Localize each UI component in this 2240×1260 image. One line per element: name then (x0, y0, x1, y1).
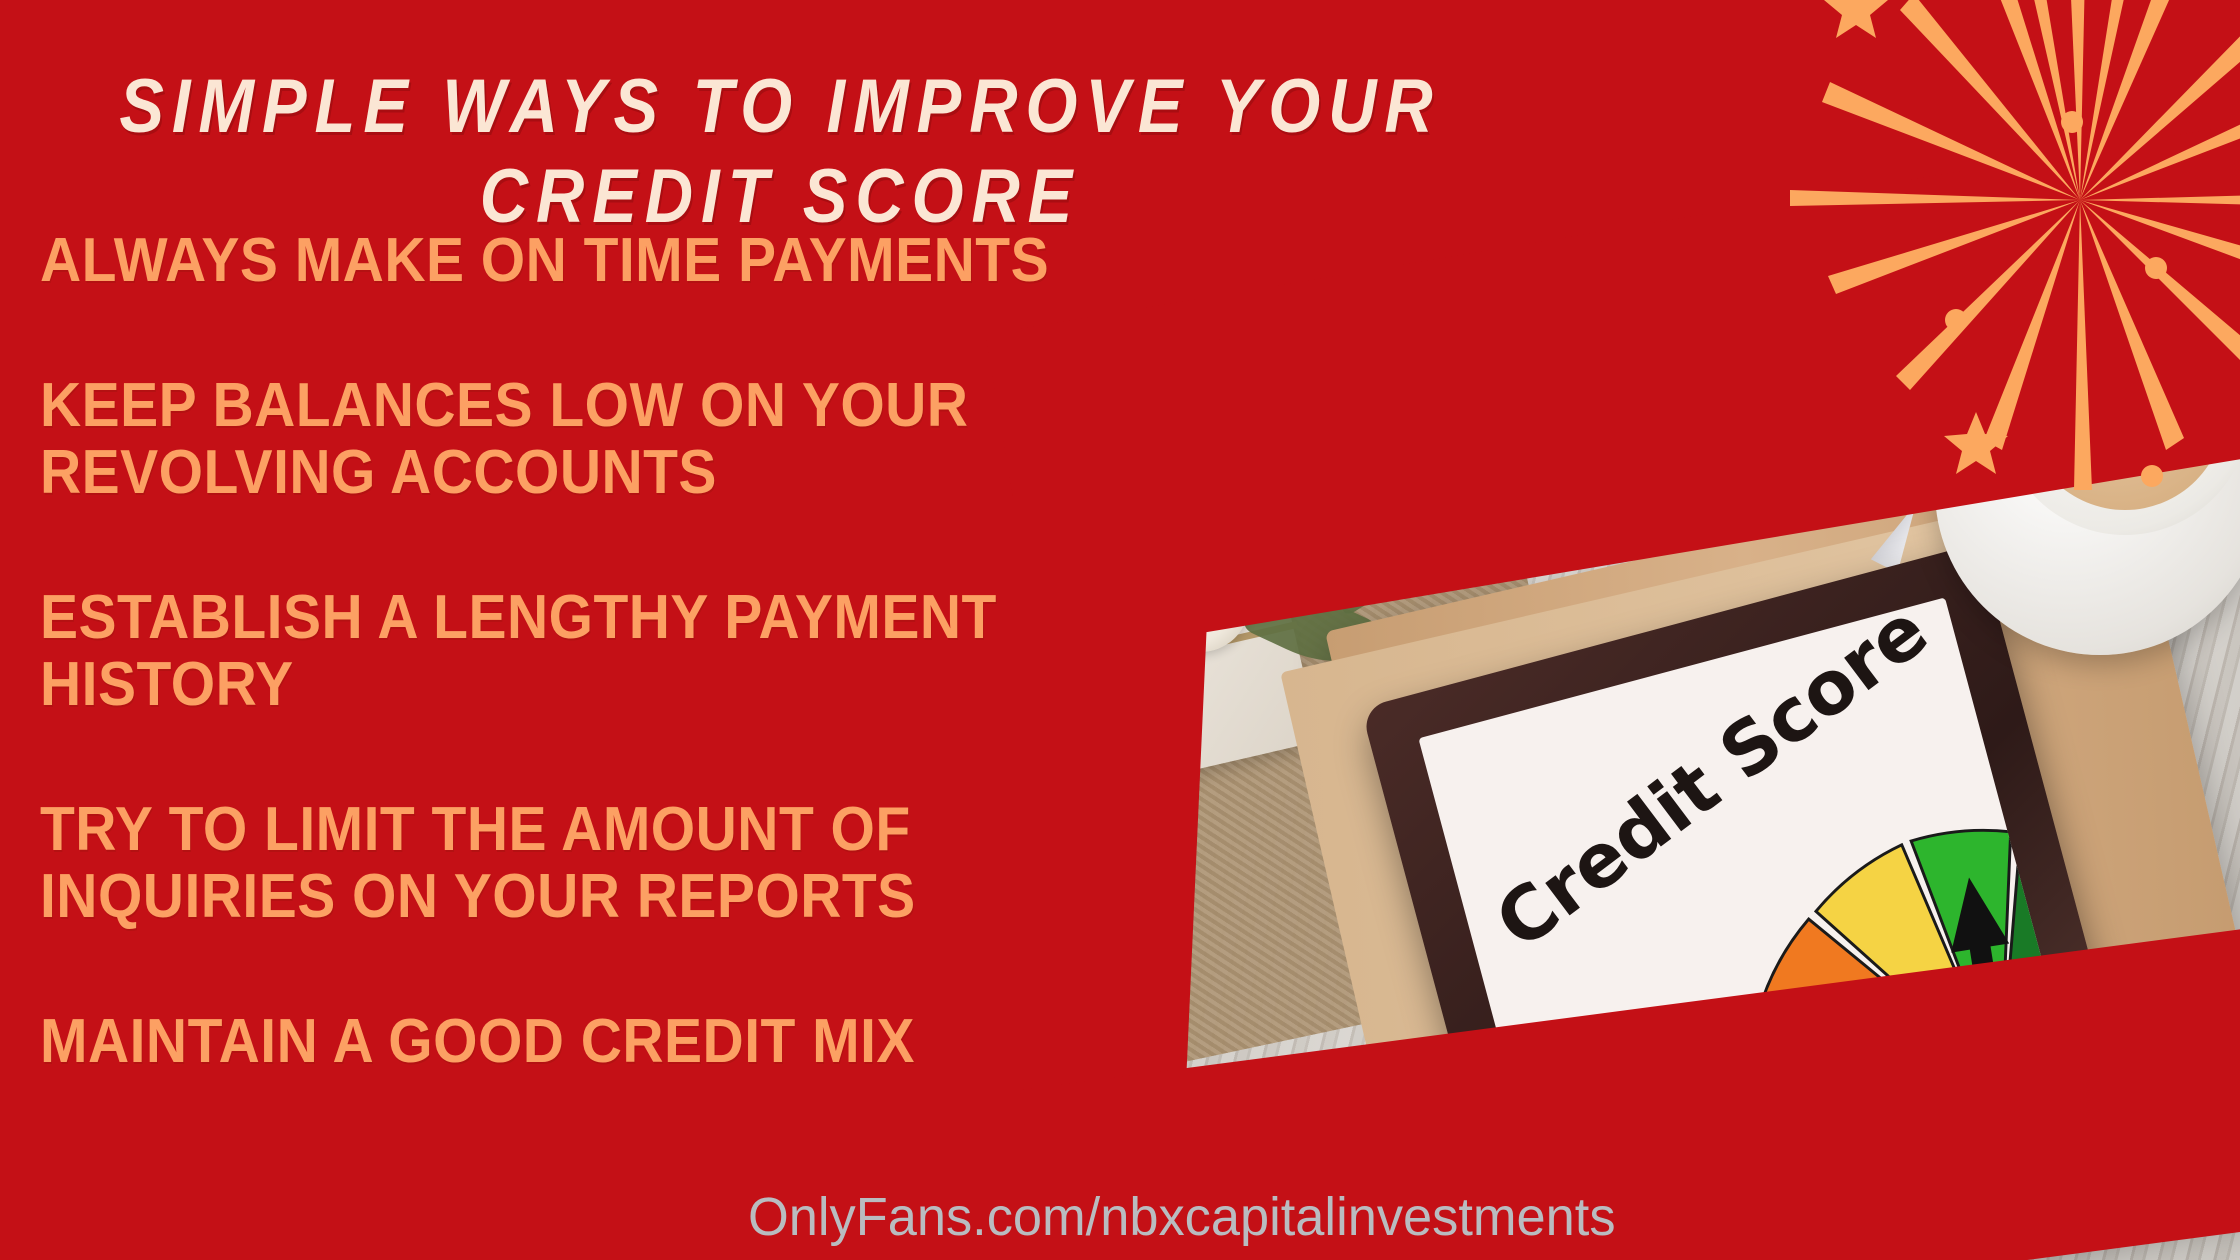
list-item: ALWAYS MAKE ON TIME PAYMENTS (40, 228, 1144, 295)
tips-list: ALWAYS MAKE ON TIME PAYMENTS KEEP BALANC… (40, 228, 1240, 1154)
list-item: TRY TO LIMIT THE AMOUNT OF INQUIRIES ON … (40, 797, 1144, 931)
page-title: SIMPLE WAYS TO IMPROVE YOUR CREDIT SCORE (94, 62, 1467, 241)
watermark-url: OnlyFans.com/nbxcapitalinvestments (748, 1186, 1616, 1248)
list-item: KEEP BALANCES LOW ON YOUR REVOLVING ACCO… (40, 373, 1144, 507)
list-item: ESTABLISH A LENGTHY PAYMENT HISTORY (40, 585, 1144, 719)
poster-canvas: Credit Score (0, 0, 2240, 1260)
list-item: MAINTAIN A GOOD CREDIT MIX (40, 1009, 1144, 1076)
